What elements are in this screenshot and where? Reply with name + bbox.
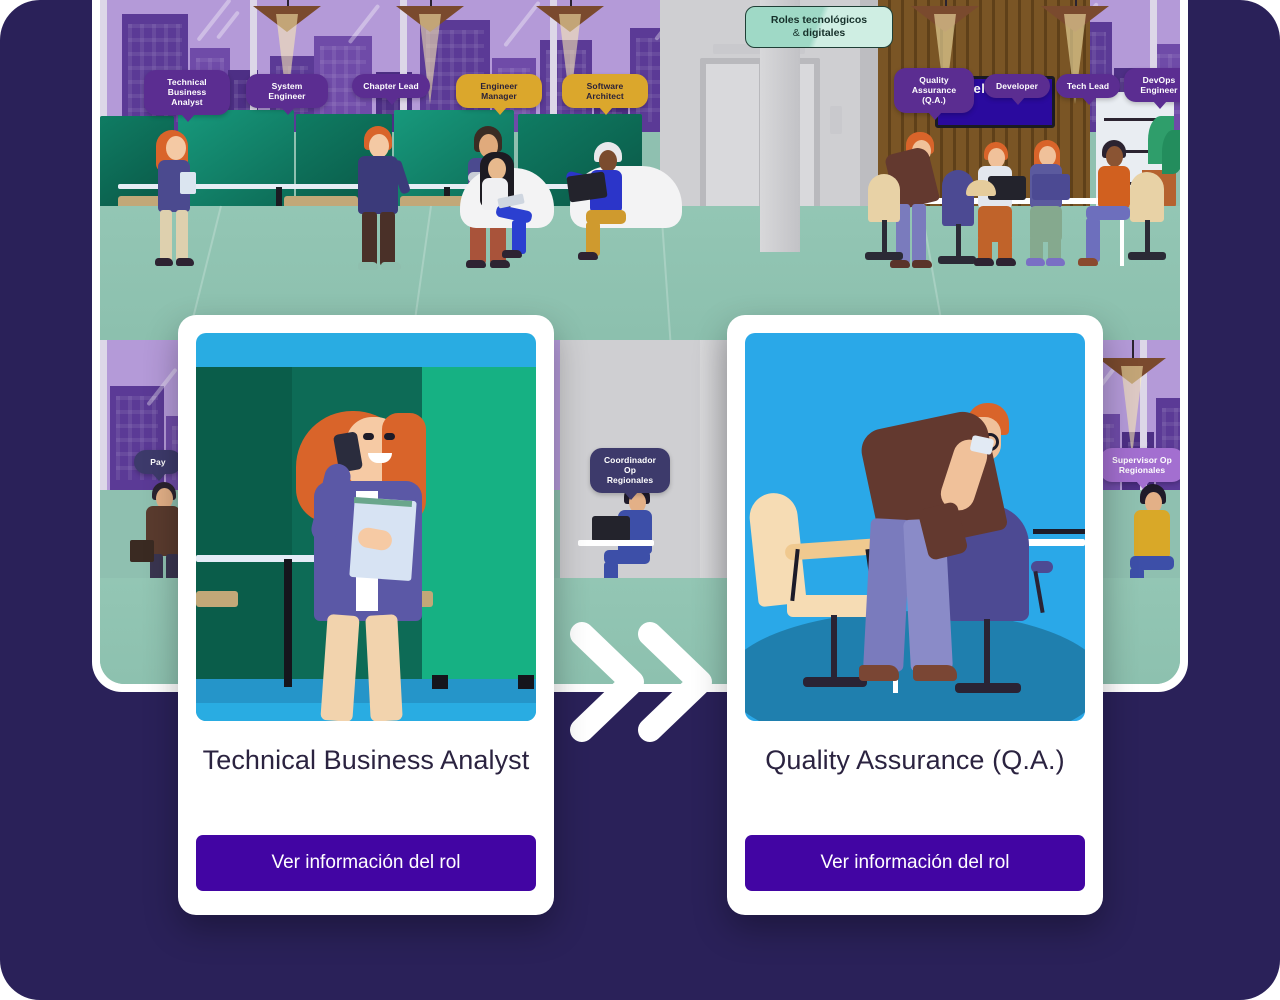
role-label-pill[interactable]: Coordinador Op Regionales xyxy=(590,448,670,493)
role-label-pill[interactable]: Supervisor Op Regionales xyxy=(1100,448,1180,482)
office-chair-2 xyxy=(1130,172,1164,222)
role-label-pill[interactable]: Technical Business Analyst xyxy=(144,70,230,115)
section-header-pill: Roles tecnológicos & digitales xyxy=(745,6,893,48)
header-pill-ampersand: & xyxy=(793,27,800,39)
view-role-info-button-2[interactable]: Ver información del rol xyxy=(745,835,1085,891)
role-label-pill[interactable]: DevOps Engineer xyxy=(1124,68,1180,102)
page-root: telecom xyxy=(0,0,1280,1000)
role-card-technical-business-analyst[interactable]: Technical Business Analyst Ver informaci… xyxy=(178,315,554,915)
header-pill-line2: digitales xyxy=(803,27,846,39)
role-label-pill[interactable]: Quality Assurance (Q.A.) xyxy=(894,68,974,113)
office-chair-3 xyxy=(868,174,900,222)
role-card-quality-assurance[interactable]: Quality Assurance (Q.A.) Ver información… xyxy=(727,315,1103,915)
role-label-pill[interactable]: Developer xyxy=(984,74,1050,98)
role-label-pill[interactable]: Chapter Lead xyxy=(352,74,430,98)
view-role-info-button-1[interactable]: Ver información del rol xyxy=(196,835,536,891)
card-media-quality-assurance xyxy=(745,333,1085,721)
office-chair-1 xyxy=(942,170,974,226)
role-label-pill[interactable]: Software Architect xyxy=(562,74,648,108)
card-media-business-analyst xyxy=(196,333,536,721)
card-title: Technical Business Analyst xyxy=(196,743,536,835)
role-label-pill[interactable]: Tech Lead xyxy=(1056,74,1120,98)
role-label-pill[interactable]: System Engineer xyxy=(246,74,328,108)
card-title: Quality Assurance (Q.A.) xyxy=(745,743,1085,835)
role-label-pill[interactable]: Pay xyxy=(134,450,182,474)
role-label-pill[interactable]: Engineer Manager xyxy=(456,74,542,108)
header-pill-line1: Roles tecnológicos xyxy=(771,14,867,26)
elevator-call-button[interactable] xyxy=(830,106,842,134)
